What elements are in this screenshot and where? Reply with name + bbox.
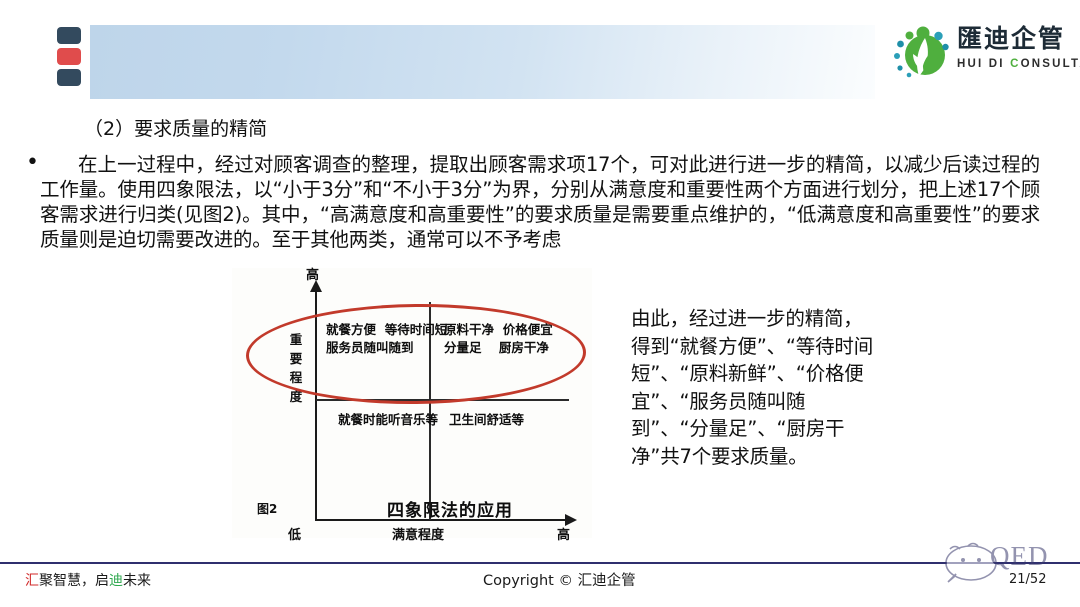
highlight-ellipse-annotation — [245, 302, 586, 406]
body-paragraph: 在上一过程中，经过对顾客调查的整理，提取出顾客需求项17个，可对此进行进一步的精… — [40, 152, 1040, 252]
quadrant-bottom-right-text: 卫生间舒适等 — [449, 411, 524, 429]
figure-caption: 四象限法的应用 — [387, 496, 513, 521]
bullet-marker: • — [26, 152, 39, 174]
logo-text-block: 匯迪企管 HUI DI CONSULTANT — [957, 24, 1080, 71]
logo-en-part2: C — [1010, 58, 1021, 70]
logo-en-part3: ONSULTANT — [1021, 58, 1080, 70]
header-square-bottom — [57, 69, 81, 86]
logo-emblem-icon — [893, 24, 953, 82]
figure-x-axis-low-label: 低 — [288, 524, 301, 543]
page-header: 匯迪企管 HUI DI CONSULTANT — [0, 0, 1080, 103]
logo-chinese-name: 匯迪企管 — [957, 24, 1080, 54]
footer-slogan-part4: 未来 — [123, 573, 151, 589]
footer-slogan-char3: 迪 — [109, 573, 123, 589]
right-side-note: 由此，经过进一步的精简，得到“就餐方便”、“等待时间短”、“原料新鲜”、“价格便… — [631, 305, 881, 470]
header-square-group — [57, 27, 81, 86]
figure-y-axis-high-label: 高 — [306, 264, 319, 283]
quadrant-figure: 高 重要程度 低 满意程度 高 就餐方便 等待时间短 服务员随叫随到 原料干净 … — [232, 268, 592, 538]
footer-slogan-char1: 汇 — [25, 573, 39, 589]
footer-copyright: Copyright © 汇迪企管 — [483, 571, 636, 591]
footer-slogan: 汇聚智慧，启迪未来 — [25, 571, 151, 591]
watermark-text: QED — [990, 541, 1049, 572]
header-square-top — [57, 27, 81, 44]
header-square-middle — [57, 48, 81, 65]
footer-divider — [0, 562, 1080, 564]
figure-number-label: 图2 — [257, 500, 277, 517]
figure-x-axis-label: 满意程度 — [392, 524, 444, 543]
logo-en-part1: HUI DI — [957, 58, 1010, 70]
footer-slogan-part2: 聚智慧，启 — [39, 573, 109, 589]
page-number: 21/52 — [1009, 572, 1046, 587]
figure-x-axis-high-label: 高 — [557, 524, 570, 543]
quadrant-bottom-left-text: 就餐时能听音乐等 — [338, 411, 438, 429]
company-logo: 匯迪企管 HUI DI CONSULTANT — [893, 22, 1073, 84]
logo-english-name: HUI DI CONSULTANT — [957, 57, 1080, 71]
header-banner — [90, 25, 875, 99]
wechat-watermark: QED — [938, 541, 1068, 591]
section-heading: （2）要求质量的精简 — [84, 116, 267, 142]
